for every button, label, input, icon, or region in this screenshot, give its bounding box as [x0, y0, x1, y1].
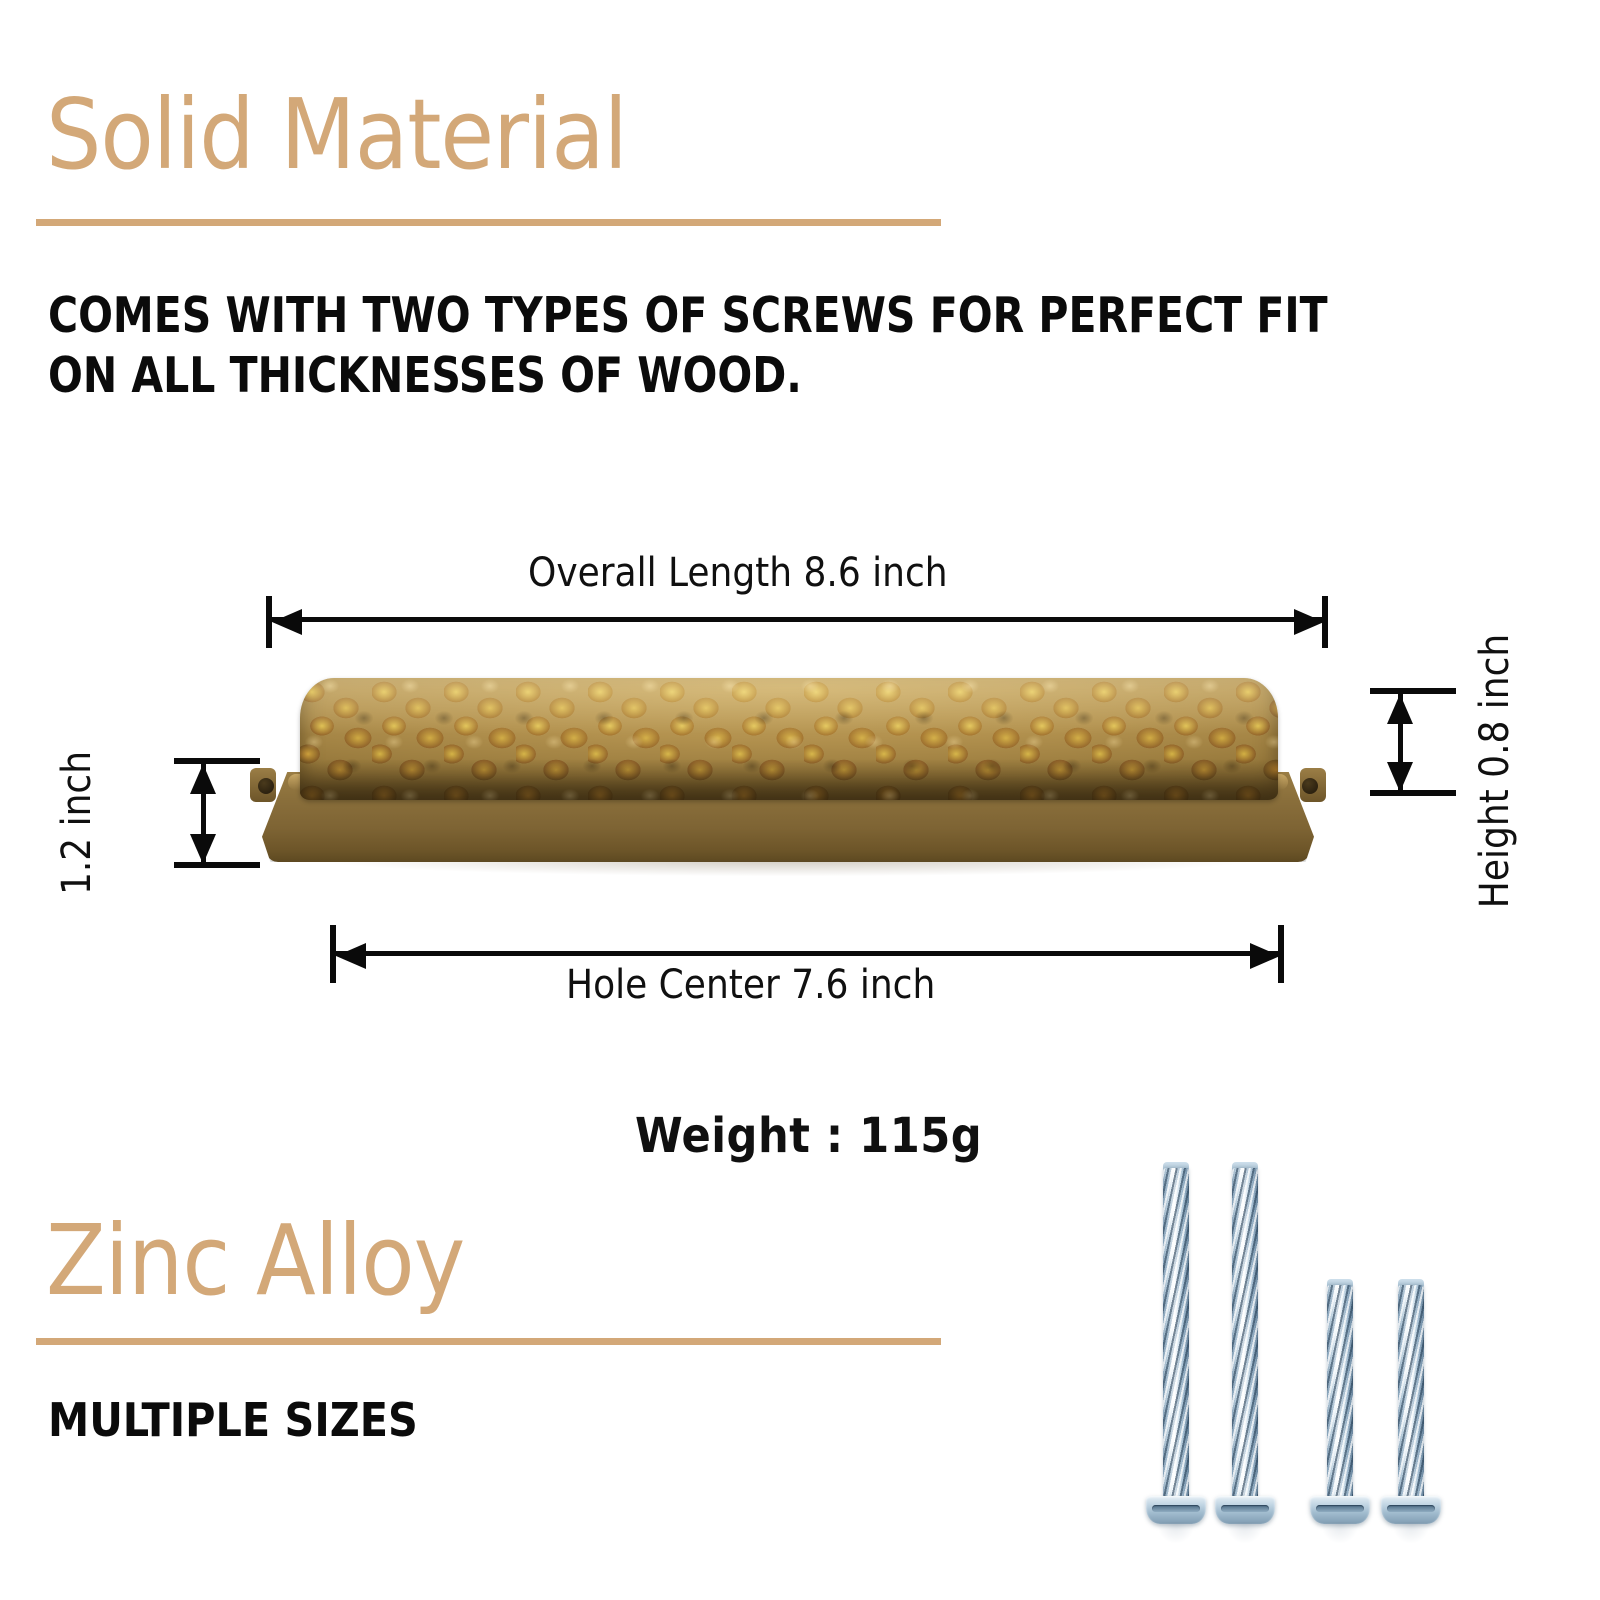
dimension-label-height: Height 0.8 inch	[1472, 606, 1518, 936]
section-subtitle-zinc-alloy: MULTIPLE SIZES	[48, 1392, 948, 1448]
screw-head	[1146, 1496, 1206, 1524]
dimension-rule	[336, 951, 1280, 956]
screw-slot	[1387, 1505, 1435, 1512]
handle-drop-shadow	[328, 860, 1248, 876]
weight-label: Weight : 115g	[635, 1108, 982, 1164]
screw-drop-shadow	[1392, 1522, 1431, 1544]
screw-slot	[1221, 1505, 1269, 1512]
arrowhead-right	[1250, 943, 1280, 969]
extension-tick-top	[174, 758, 260, 764]
section-divider-zinc-alloy	[36, 1338, 941, 1345]
product-image-drawer-pull	[258, 672, 1318, 872]
screw-head	[1215, 1496, 1275, 1524]
screw-head	[1310, 1496, 1370, 1524]
extension-tick-bottom	[1370, 790, 1456, 796]
screw-slot	[1316, 1505, 1364, 1512]
screw-hole-left	[258, 778, 274, 794]
handle-hammered-body	[300, 678, 1278, 800]
section-divider-solid-material	[36, 219, 941, 226]
screw-threads	[1398, 1285, 1424, 1500]
extension-tick-bottom	[174, 862, 260, 868]
short-screw-1	[1327, 1285, 1353, 1530]
screw-hole-right	[1302, 778, 1318, 794]
screw-drop-shadow	[1226, 1522, 1265, 1544]
screw-head	[1381, 1496, 1441, 1524]
screw-shaft	[1398, 1285, 1424, 1500]
screw-shaft	[1232, 1168, 1258, 1500]
long-screw-1	[1163, 1168, 1189, 1530]
arrowhead-left	[336, 943, 366, 969]
dimension-label-hole-center: Hole Center 7.6 inch	[566, 962, 935, 1008]
screw-threads	[1327, 1285, 1353, 1500]
arrowhead-left	[272, 609, 302, 635]
extension-tick-top	[1370, 688, 1456, 694]
long-screw-2	[1232, 1168, 1258, 1530]
screw-slot	[1152, 1505, 1200, 1512]
hammered-texture-layer-2	[300, 678, 1278, 800]
screw-threads	[1232, 1168, 1258, 1500]
dimension-label-depth: 1.2 inch	[54, 708, 100, 938]
arrowhead-down	[190, 834, 216, 864]
screw-drop-shadow	[1321, 1522, 1360, 1544]
screw-threads	[1163, 1168, 1189, 1500]
screw-shaft	[1163, 1168, 1189, 1500]
screw-drop-shadow	[1157, 1522, 1196, 1544]
dimension-label-overall-length: Overall Length 8.6 inch	[528, 550, 948, 596]
arrowhead-down	[1387, 762, 1413, 792]
arrowhead-up	[190, 764, 216, 794]
screw-shaft	[1327, 1285, 1353, 1500]
infographic-canvas: Solid Material COMES WITH TWO TYPES OF S…	[0, 0, 1600, 1600]
short-screw-2	[1398, 1285, 1424, 1530]
section-subtitle-solid-material: COMES WITH TWO TYPES OF SCREWS FOR PERFE…	[48, 286, 1369, 406]
arrowhead-right	[1294, 609, 1324, 635]
section-title-zinc-alloy: Zinc Alloy	[46, 1212, 464, 1309]
dimension-rule	[272, 617, 1324, 622]
arrowhead-up	[1387, 694, 1413, 724]
section-title-solid-material: Solid Material	[46, 86, 627, 183]
